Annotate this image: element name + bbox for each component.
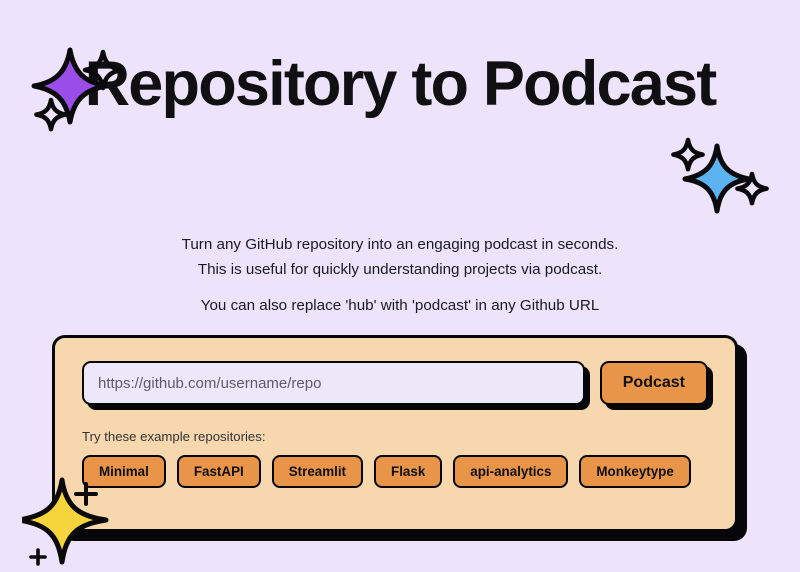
repo-form-card: Podcast Try these example repositories: … [52, 335, 738, 532]
sparkle-blue-icon [662, 126, 774, 218]
podcast-submit-button[interactable]: Podcast [600, 361, 708, 405]
examples-label: Try these example repositories: [82, 429, 708, 444]
example-chip-minimal[interactable]: Minimal [82, 455, 166, 488]
example-chip-fastapi[interactable]: FastAPI [177, 455, 261, 488]
subtitle-spacer [0, 282, 800, 293]
page-subtitle: Turn any GitHub repository into an engag… [0, 232, 800, 318]
repo-url-input[interactable] [82, 361, 585, 405]
example-repo-list: Minimal FastAPI Streamlit Flask api-anal… [82, 455, 708, 488]
url-submit-row: Podcast [82, 361, 708, 405]
subtitle-line-2: This is useful for quickly understanding… [0, 257, 800, 282]
subtitle-line-1: Turn any GitHub repository into an engag… [0, 232, 800, 257]
page-title: Repository to Podcast [0, 54, 800, 116]
example-chip-monkeytype[interactable]: Monkeytype [579, 455, 690, 488]
example-chip-api-analytics[interactable]: api-analytics [453, 455, 568, 488]
example-chip-flask[interactable]: Flask [374, 455, 442, 488]
page-root: Repository to Podcast Turn any GitHub re… [0, 0, 800, 572]
example-chip-streamlit[interactable]: Streamlit [272, 455, 363, 488]
url-input-wrapper [82, 361, 585, 405]
subtitle-line-3: You can also replace 'hub' with 'podcast… [0, 293, 800, 318]
card-content: Podcast Try these example repositories: … [52, 335, 738, 532]
